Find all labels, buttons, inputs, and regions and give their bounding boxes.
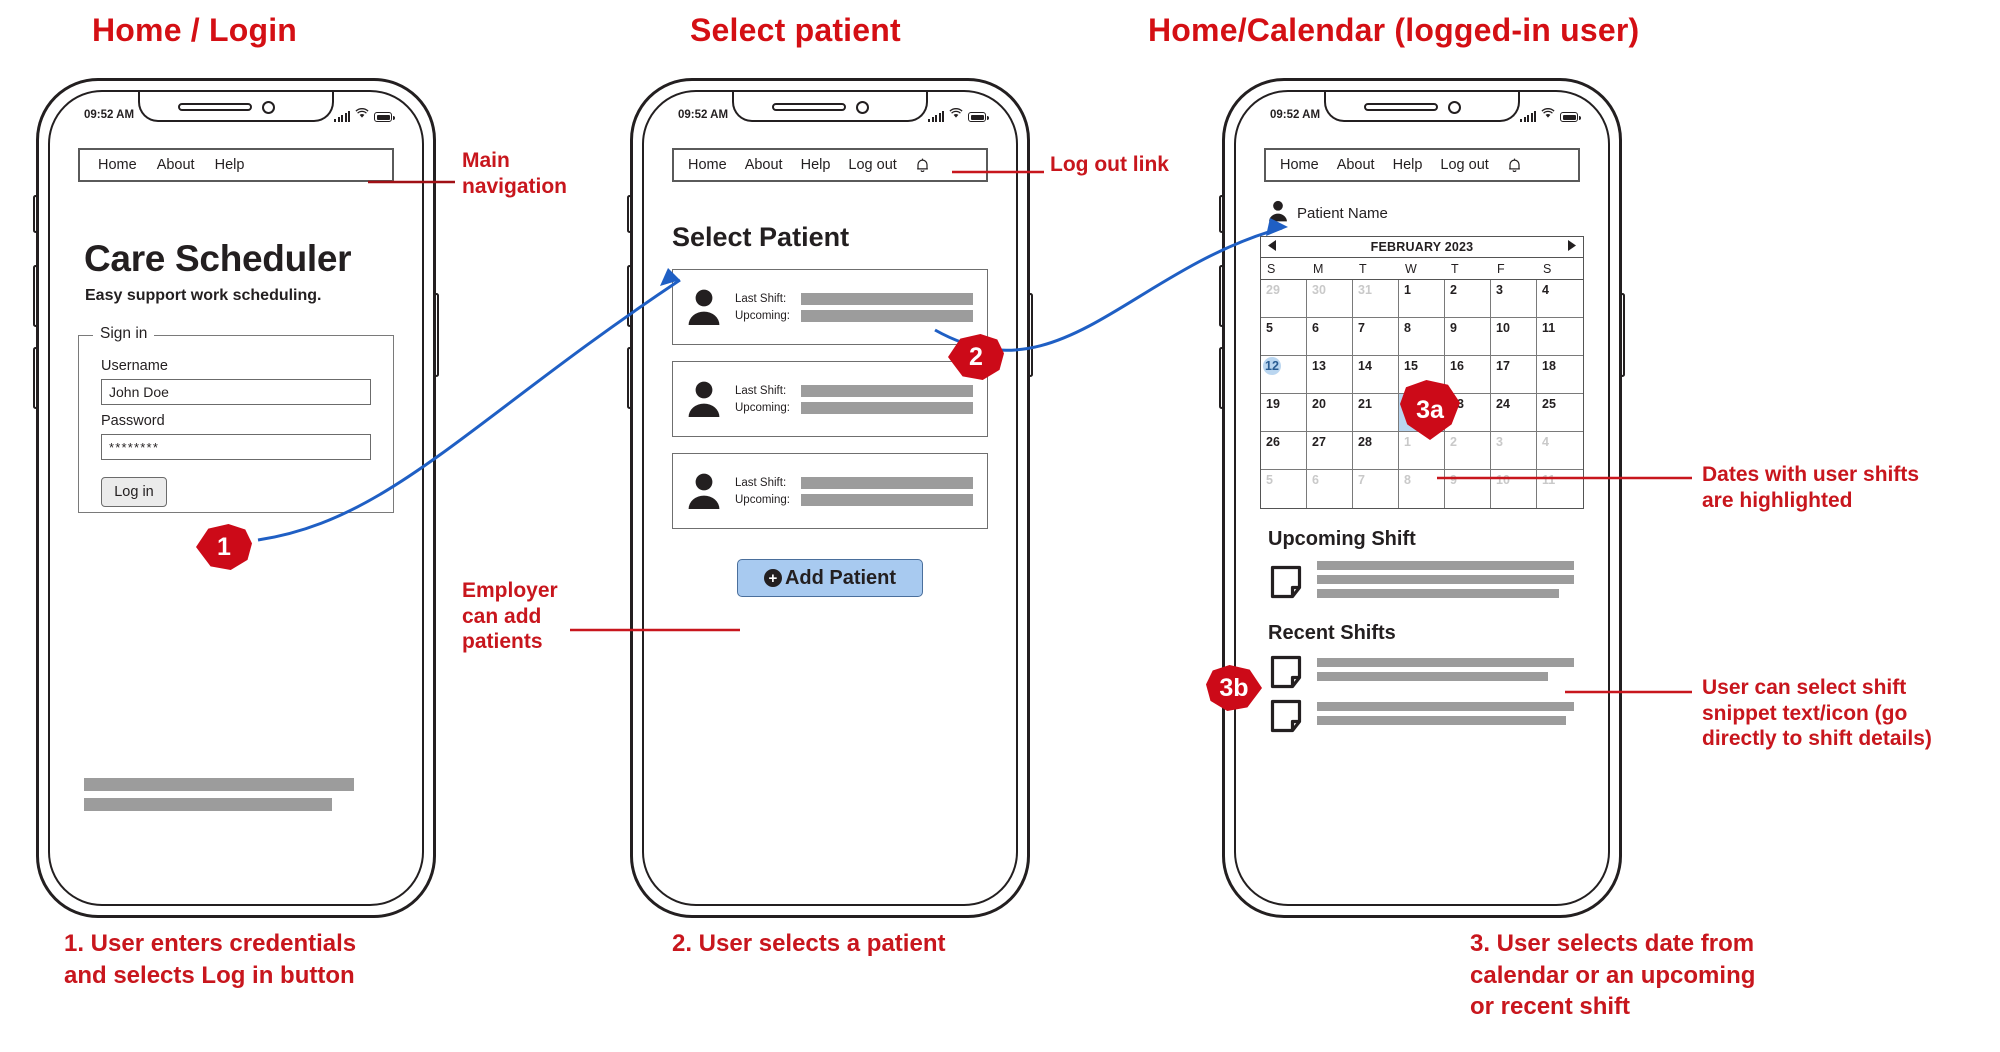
page-title-select-patient: Select Patient — [672, 222, 1004, 253]
calendar-day-4[interactable]: 4 — [1537, 280, 1583, 318]
calendar-day-10-adjacent: 10 — [1491, 470, 1537, 508]
calendar-day-4-adjacent: 4 — [1537, 432, 1583, 470]
nav-item-about[interactable]: About — [1337, 157, 1375, 173]
calendar-day-8-adjacent: 8 — [1399, 470, 1445, 508]
nav-item-home[interactable]: Home — [98, 157, 137, 173]
calendar-day-number: 19 — [1266, 397, 1280, 411]
calendar-day-3-adjacent: 3 — [1491, 432, 1537, 470]
calendar-day-12[interactable]: 12 — [1261, 356, 1307, 394]
power-button[interactable] — [1028, 293, 1033, 377]
calendar-day-number: 11 — [1542, 473, 1555, 487]
calendar-day-number: 29 — [1266, 283, 1280, 297]
caption-step-2: 2. User selects a patient — [672, 928, 945, 960]
power-button[interactable] — [434, 293, 439, 377]
calendar-day-6-adjacent: 6 — [1307, 470, 1353, 508]
patient-card[interactable]: Last Shift: Upcoming: — [672, 361, 988, 437]
calendar-header: FEBRUARY 2023 — [1261, 237, 1583, 258]
status-time: 09:52 AM — [678, 109, 728, 121]
calendar-day-25[interactable]: 25 — [1537, 394, 1583, 432]
calendar-day-number: 8 — [1404, 473, 1411, 487]
recent-shift-item[interactable] — [1270, 655, 1596, 689]
calendar-day-number: 3 — [1496, 435, 1503, 449]
status-time: 09:52 AM — [1270, 109, 1320, 121]
wifi-icon — [1541, 108, 1555, 122]
nav-item-about[interactable]: About — [745, 157, 783, 173]
log-in-button[interactable]: Log in — [101, 477, 167, 507]
recent-shift-item[interactable] — [1270, 699, 1596, 733]
username-label: Username — [101, 358, 371, 374]
password-label: Password — [101, 413, 371, 429]
battery-icon — [1560, 112, 1578, 122]
patient-card-rows: Last Shift: Upcoming: — [735, 288, 973, 327]
dow-thursday: T — [1445, 258, 1491, 279]
add-patient-button[interactable]: + Add Patient — [737, 559, 923, 597]
calendar-day-5[interactable]: 5 — [1261, 318, 1307, 356]
screen-select-patient: Home About Help Log out Select Patient — [656, 136, 1004, 890]
dow-sunday: S — [1261, 258, 1307, 279]
person-icon — [687, 288, 721, 326]
calendar-day-number: 17 — [1496, 359, 1510, 373]
calendar-day-17[interactable]: 17 — [1491, 356, 1537, 394]
patient-last-shift-row: Last Shift: — [735, 385, 973, 397]
step-badge-1: 1 — [196, 524, 252, 570]
last-shift-label: Last Shift: — [735, 385, 793, 397]
calendar-day-24[interactable]: 24 — [1491, 394, 1537, 432]
calendar-day-28[interactable]: 28 — [1353, 432, 1399, 470]
nav-item-log-out[interactable]: Log out — [848, 157, 896, 173]
calendar-day-number: 2 — [1450, 283, 1457, 297]
section-title-home-login: Home / Login — [92, 12, 297, 49]
dow-tuesday: T — [1353, 258, 1399, 279]
person-icon — [687, 380, 721, 418]
main-navigation-bar[interactable]: Home About Help Log out — [1264, 148, 1580, 182]
placeholder-bar — [801, 494, 973, 506]
nav-item-home[interactable]: Home — [688, 157, 727, 173]
calendar-day-number: 26 — [1266, 435, 1280, 449]
calendar-day-8[interactable]: 8 — [1399, 318, 1445, 356]
calendar-day-20[interactable]: 20 — [1307, 394, 1353, 432]
placeholder-bar — [801, 402, 973, 414]
calendar-day-number: 28 — [1358, 435, 1372, 449]
section-title-select-patient: Select patient — [690, 12, 901, 49]
document-icon[interactable] — [1270, 655, 1302, 689]
calendar-day-11[interactable]: 11 — [1537, 318, 1583, 356]
volume-up-button[interactable] — [33, 265, 38, 327]
calendar-day-number: 12 — [1263, 357, 1281, 375]
step-badge-2: 2 — [948, 334, 1004, 380]
document-icon[interactable] — [1270, 565, 1302, 599]
calendar-day-11-adjacent: 11 — [1537, 470, 1583, 508]
patient-card-rows: Last Shift: Upcoming: — [735, 472, 973, 511]
calendar-day-number: 1 — [1404, 283, 1411, 297]
plus-circle-icon: + — [764, 569, 782, 587]
calendar-day-number: 5 — [1266, 473, 1273, 487]
calendar-day-number: 9 — [1450, 473, 1457, 487]
wireframe-canvas: Home / Login Select patient Home/Calenda… — [0, 0, 2000, 1052]
caption-step-1: 1. User enters credentials and selects L… — [64, 928, 356, 991]
shift-placeholder-bars — [1317, 702, 1574, 730]
bell-icon[interactable] — [915, 158, 930, 173]
calendar-day-9-adjacent: 9 — [1445, 470, 1491, 508]
calendar-day-5-adjacent: 5 — [1261, 470, 1307, 508]
calendar-day-7[interactable]: 7 — [1353, 318, 1399, 356]
calendar-day-29-adjacent: 29 — [1261, 280, 1307, 318]
mute-button[interactable] — [627, 195, 632, 233]
upcoming-shift-heading: Upcoming Shift — [1268, 528, 1596, 551]
calendar-day-27[interactable]: 27 — [1307, 432, 1353, 470]
patient-card[interactable]: Last Shift: Upcoming: — [672, 269, 988, 345]
status-bar: 09:52 AM — [1236, 104, 1608, 126]
signal-bars-icon — [334, 111, 350, 122]
volume-up-button[interactable] — [1219, 265, 1224, 327]
patient-last-shift-row: Last Shift: — [735, 477, 973, 489]
calendar-day-number: 3 — [1496, 283, 1503, 297]
calendar-day-number: 8 — [1404, 321, 1411, 335]
calendar-day-18[interactable]: 18 — [1537, 356, 1583, 394]
calendar-month-label: FEBRUARY 2023 — [1371, 240, 1474, 254]
calendar-day-3[interactable]: 3 — [1491, 280, 1537, 318]
calendar-day-number: 10 — [1496, 321, 1510, 335]
nav-item-help[interactable]: Help — [215, 157, 245, 173]
calendar-day-number: 30 — [1312, 283, 1326, 297]
patient-name: Patient Name — [1297, 205, 1388, 222]
annotation-employer-add-patients: Employer can add patients — [462, 578, 558, 655]
volume-down-button[interactable] — [33, 347, 38, 409]
footer-placeholder-bars — [84, 778, 354, 818]
screen-calendar: Home About Help Log out Patient Name — [1248, 136, 1596, 890]
add-patient-label: Add Patient — [785, 567, 896, 590]
mute-button[interactable] — [1219, 195, 1224, 233]
calendar-day-number: 25 — [1542, 397, 1556, 411]
selected-patient[interactable]: Patient Name — [1268, 200, 1596, 226]
status-bar: 09:52 AM — [644, 104, 1016, 126]
status-icons — [334, 108, 392, 122]
placeholder-bar — [801, 477, 973, 489]
placeholder-bar — [84, 778, 354, 791]
calendar-day-number: 24 — [1496, 397, 1510, 411]
caption-step-3: 3. User selects date from calendar or an… — [1470, 928, 1755, 1023]
placeholder-bar — [1317, 716, 1566, 725]
patient-upcoming-row: Upcoming: — [735, 402, 973, 414]
signal-bars-icon — [928, 111, 944, 122]
placeholder-bar — [1317, 575, 1574, 584]
calendar: FEBRUARY 2023 S M T W T F S 2930 — [1260, 236, 1584, 509]
calendar-day-number: 4 — [1542, 283, 1549, 297]
calendar-day-number: 6 — [1312, 473, 1319, 487]
calendar-day-1[interactable]: 1 — [1399, 280, 1445, 318]
placeholder-bar — [801, 385, 973, 397]
caret-left-icon[interactable] — [1266, 239, 1278, 255]
dow-saturday: S — [1537, 258, 1583, 279]
patient-card[interactable]: Last Shift: Upcoming: — [672, 453, 988, 529]
phone-frame-calendar: 09:52 AM Home About Help Log out — [1222, 78, 1622, 918]
status-time: 09:52 AM — [84, 109, 134, 121]
person-icon — [1268, 200, 1288, 226]
calendar-day-number: 6 — [1312, 321, 1319, 335]
dow-wednesday: W — [1399, 258, 1445, 279]
calendar-day-of-week-row: S M T W T F S — [1261, 258, 1583, 280]
calendar-day-26[interactable]: 26 — [1261, 432, 1307, 470]
patient-last-shift-row: Last Shift: — [735, 293, 973, 305]
battery-icon — [968, 112, 986, 122]
sign-in-fieldset: Sign in Username John Doe Password *****… — [78, 335, 394, 513]
calendar-day-14[interactable]: 14 — [1353, 356, 1399, 394]
password-input[interactable]: ******** — [101, 434, 371, 460]
calendar-day-number: 21 — [1358, 397, 1372, 411]
calendar-day-number: 20 — [1312, 397, 1326, 411]
last-shift-label: Last Shift: — [735, 477, 793, 489]
battery-icon — [374, 112, 392, 122]
placeholder-bar — [1317, 589, 1559, 598]
annotation-log-out-link: Log out link — [1050, 152, 1169, 178]
placeholder-bar — [1317, 658, 1574, 667]
placeholder-bar — [1317, 702, 1574, 711]
app-tagline: Easy support work scheduling. — [85, 287, 410, 305]
calendar-day-number: 27 — [1312, 435, 1326, 449]
dow-monday: M — [1307, 258, 1353, 279]
step-badge-3a: 3a — [1400, 380, 1460, 440]
phone-bezel: 09:52 AM Home About Help Log out — [1234, 90, 1610, 906]
calendar-day-10[interactable]: 10 — [1491, 318, 1537, 356]
wifi-icon — [355, 108, 369, 122]
calendar-day-number: 9 — [1450, 321, 1457, 335]
calendar-day-number: 14 — [1358, 359, 1372, 373]
main-navigation-bar[interactable]: Home About Help Log out — [672, 148, 988, 182]
screen-login: Home About Help Care Scheduler Easy supp… — [62, 136, 410, 890]
calendar-day-number: 13 — [1312, 359, 1326, 373]
status-icons — [1520, 108, 1578, 122]
calendar-day-6[interactable]: 6 — [1307, 318, 1353, 356]
calendar-day-number: 16 — [1450, 359, 1464, 373]
calendar-day-number: 18 — [1542, 359, 1556, 373]
phone-frame-select-patient: 09:52 AM Home About Help Log out — [630, 78, 1030, 918]
calendar-day-number: 5 — [1266, 321, 1273, 335]
bell-icon[interactable] — [1507, 158, 1522, 173]
username-input[interactable]: John Doe — [101, 379, 371, 405]
upcoming-shift-item[interactable] — [1270, 561, 1596, 603]
patient-upcoming-row: Upcoming: — [735, 494, 973, 506]
wifi-icon — [949, 108, 963, 122]
shift-placeholder-bars — [1317, 561, 1574, 603]
placeholder-bar — [801, 310, 973, 322]
volume-down-button[interactable] — [627, 347, 632, 409]
annotation-main-navigation: Main navigation — [462, 148, 567, 199]
calendar-day-number: 10 — [1496, 473, 1510, 487]
last-shift-label: Last Shift: — [735, 293, 793, 305]
recent-shifts-heading: Recent Shifts — [1268, 622, 1596, 645]
placeholder-bar — [84, 798, 332, 811]
calendar-day-number: 7 — [1358, 473, 1365, 487]
calendar-day-number: 7 — [1358, 321, 1365, 335]
calendar-day-number: 31 — [1358, 283, 1372, 297]
caret-right-icon[interactable] — [1566, 239, 1578, 255]
placeholder-bar — [1317, 672, 1548, 681]
placeholder-bar — [801, 293, 973, 305]
power-button[interactable] — [1620, 293, 1625, 377]
nav-item-home[interactable]: Home — [1280, 157, 1319, 173]
placeholder-bar — [1317, 561, 1574, 570]
calendar-day-number: 15 — [1404, 359, 1418, 373]
shift-placeholder-bars — [1317, 658, 1574, 686]
calendar-day-2[interactable]: 2 — [1445, 280, 1491, 318]
phone-frame-login: 09:52 AM Home About Help Care Scheduler … — [36, 78, 436, 918]
upcoming-label: Upcoming: — [735, 310, 793, 322]
nav-item-help[interactable]: Help — [1393, 157, 1423, 173]
calendar-day-number: 11 — [1542, 321, 1555, 335]
patient-upcoming-row: Upcoming: — [735, 310, 973, 322]
calendar-day-21[interactable]: 21 — [1353, 394, 1399, 432]
calendar-day-7-adjacent: 7 — [1353, 470, 1399, 508]
patient-card-rows: Last Shift: Upcoming: — [735, 380, 973, 419]
nav-item-log-out[interactable]: Log out — [1440, 157, 1488, 173]
signal-bars-icon — [1520, 111, 1536, 122]
annotation-shift-snippet: User can select shift snippet text/icon … — [1702, 675, 1932, 752]
step-badge-3b: 3b — [1206, 665, 1262, 711]
main-navigation-bar[interactable]: Home About Help — [78, 148, 394, 182]
annotation-dates-highlighted: Dates with user shifts are highlighted — [1702, 462, 1919, 513]
calendar-day-30-adjacent: 30 — [1307, 280, 1353, 318]
upcoming-label: Upcoming: — [735, 402, 793, 414]
document-icon[interactable] — [1270, 699, 1302, 733]
sign-in-legend: Sign in — [93, 325, 154, 343]
calendar-day-9[interactable]: 9 — [1445, 318, 1491, 356]
volume-up-button[interactable] — [627, 265, 632, 327]
dow-friday: F — [1491, 258, 1537, 279]
section-title-home-calendar: Home/Calendar (logged-in user) — [1148, 12, 1639, 49]
calendar-day-19[interactable]: 19 — [1261, 394, 1307, 432]
calendar-day-13[interactable]: 13 — [1307, 356, 1353, 394]
status-bar: 09:52 AM — [50, 104, 422, 126]
mute-button[interactable] — [33, 195, 38, 233]
phone-bezel: 09:52 AM Home About Help Care Scheduler … — [48, 90, 424, 906]
nav-item-about[interactable]: About — [157, 157, 195, 173]
calendar-day-31-adjacent: 31 — [1353, 280, 1399, 318]
nav-item-help[interactable]: Help — [801, 157, 831, 173]
app-title: Care Scheduler — [84, 238, 410, 280]
volume-down-button[interactable] — [1219, 347, 1224, 409]
calendar-day-number: 4 — [1542, 435, 1549, 449]
phone-bezel: 09:52 AM Home About Help Log out — [642, 90, 1018, 906]
upcoming-label: Upcoming: — [735, 494, 793, 506]
status-icons — [928, 108, 986, 122]
person-icon — [687, 472, 721, 510]
